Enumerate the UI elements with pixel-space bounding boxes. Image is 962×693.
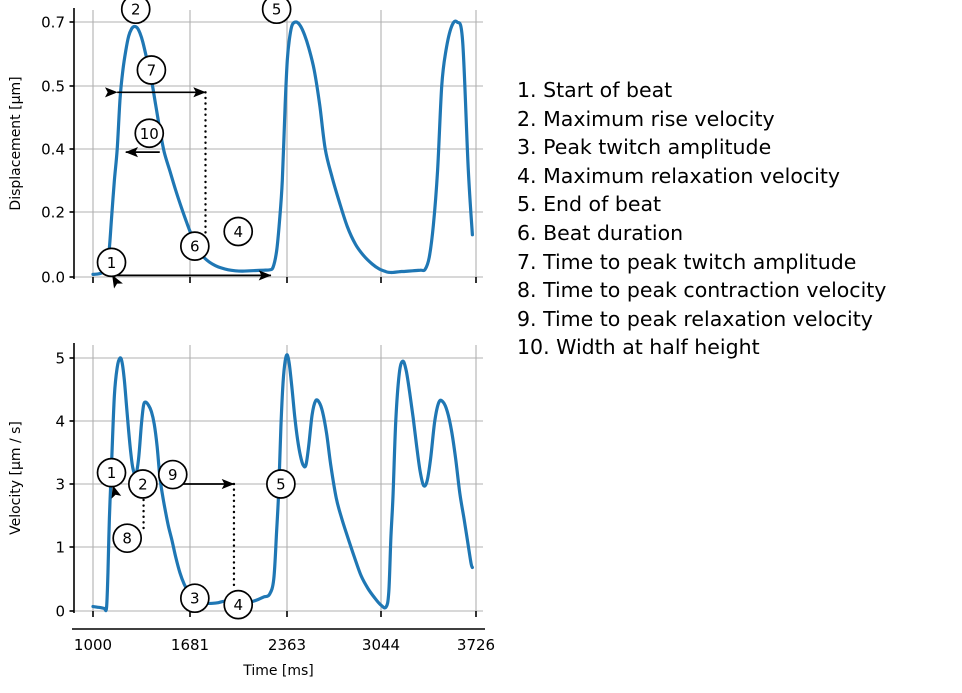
marker-label-2: 2 [138, 476, 148, 494]
ytick-label-2: 0.4 [41, 141, 65, 159]
legend-item-7: 7. Time to peak twitch amplitude [517, 248, 957, 277]
y-axis-label-displacement: Displacement [µm] [8, 76, 24, 210]
marker-displacement-6[interactable]: 6 [181, 232, 209, 260]
legend-item-1: 1. Start of beat [517, 76, 957, 105]
ytick-label-3: 1 [55, 539, 65, 557]
marker-label-1: 1 [107, 464, 117, 482]
xtick-label-0: 1000 [74, 636, 112, 654]
marker-velocity-5[interactable]: 5 [267, 470, 295, 498]
marker-label-5: 5 [272, 1, 282, 19]
legend-item-10: 10. Width at half height [517, 333, 957, 362]
annotation-legend-list: 1. Start of beat2. Maximum rise velocity… [517, 76, 957, 362]
marker-label-1: 1 [107, 254, 117, 272]
ytick-label-4: 0 [55, 603, 65, 621]
x-axis-label: Time [ms] [242, 663, 314, 679]
marker-label-5: 5 [276, 476, 286, 494]
ytick-label-1: 0.5 [41, 78, 65, 96]
xtick-label-3: 3044 [362, 636, 400, 654]
legend-item-5: 5. End of beat [517, 190, 957, 219]
marker-label-3: 3 [190, 590, 200, 608]
marker-velocity-8[interactable]: 8 [113, 524, 141, 552]
legend-item-3: 3. Peak twitch amplitude [517, 133, 957, 162]
marker-velocity-9[interactable]: 9 [159, 461, 187, 489]
ytick-label-2: 3 [55, 476, 65, 494]
xtick-label-1: 1681 [171, 636, 209, 654]
marker-velocity-3[interactable]: 3 [181, 584, 209, 612]
ytick-label-0: 5 [55, 350, 65, 368]
marker-displacement-1[interactable]: 1 [98, 248, 126, 276]
axes-displacement: 0.70.50.40.20.0Displacement [µm]12564710 [8, 0, 483, 286]
legend-item-4: 4. Maximum relaxation velocity [517, 162, 957, 191]
legend-item-2: 2. Maximum rise velocity [517, 105, 957, 134]
ytick-label-3: 0.2 [41, 204, 65, 222]
axes-velocity: 5431010001681236330443726Time [ms]Veloci… [8, 343, 495, 679]
legend-item-6: 6. Beat duration [517, 219, 957, 248]
xtick-label-2: 2363 [268, 636, 306, 654]
xtick-label-4: 3726 [457, 636, 495, 654]
marker-displacement-10[interactable]: 10 [135, 119, 163, 147]
marker-label-4: 4 [233, 596, 243, 614]
ytick-label-4: 0.0 [41, 269, 65, 287]
marker-displacement-4[interactable]: 4 [224, 218, 252, 246]
marker-displacement-5[interactable]: 5 [263, 0, 291, 23]
marker-velocity-2[interactable]: 2 [129, 470, 157, 498]
marker-displacement-7[interactable]: 7 [137, 56, 165, 84]
y-axis-label-velocity: Velocity [µm / s] [8, 421, 24, 535]
marker-label-9: 9 [168, 466, 178, 484]
marker-velocity-1[interactable]: 1 [98, 459, 126, 487]
marker-label-7: 7 [147, 62, 157, 80]
marker-label-2: 2 [131, 1, 141, 19]
marker-label-10: 10 [140, 125, 159, 143]
legend-item-8: 8. Time to peak contraction velocity [517, 276, 957, 305]
ytick-label-1: 4 [55, 413, 65, 431]
marker-label-4: 4 [233, 223, 243, 241]
ytick-label-0: 0.7 [41, 14, 65, 32]
marker-displacement-2[interactable]: 2 [122, 0, 150, 23]
legend-item-9: 9. Time to peak relaxation velocity [517, 305, 957, 334]
marker-label-8: 8 [122, 530, 132, 548]
marker-label-6: 6 [190, 238, 200, 256]
marker-velocity-4[interactable]: 4 [224, 591, 252, 619]
